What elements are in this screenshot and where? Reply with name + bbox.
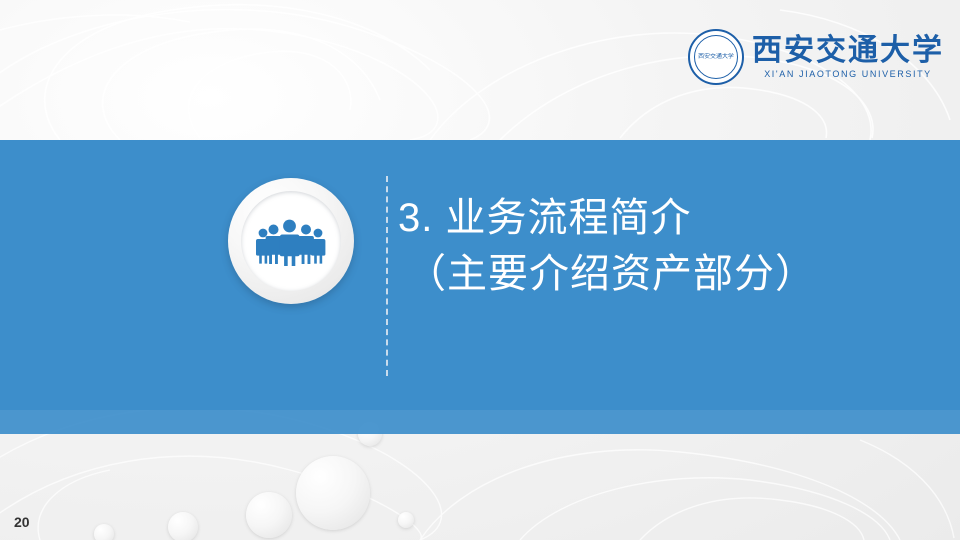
university-seal-icon: 西安交通大学 (688, 29, 744, 85)
title-line-2: （主要介绍资产部分） (398, 246, 938, 302)
seal-text: 西安交通大学 (698, 54, 734, 61)
page-title: 3. 业务流程简介 （主要介绍资产部分） (398, 190, 938, 302)
title-band-lower-strip (0, 410, 960, 434)
university-logo: 西安交通大学 西安交通大学 XI'AN JIAOTONG UNIVERSITY (688, 26, 944, 88)
university-name-cn: 西安交通大学 (752, 34, 944, 68)
emblem-circle (228, 178, 354, 304)
title-line-1: 3. 业务流程简介 (398, 190, 938, 246)
dashed-divider (386, 176, 388, 376)
page-number: 20 (14, 514, 30, 530)
people-group-icon (241, 191, 341, 291)
university-name-en: XI'AN JIAOTONG UNIVERSITY (752, 68, 944, 80)
slide: 3. 业务流程简介 （主要介绍资产部分） 西安交通大学 西安交通大学 XI'AN… (0, 0, 960, 540)
